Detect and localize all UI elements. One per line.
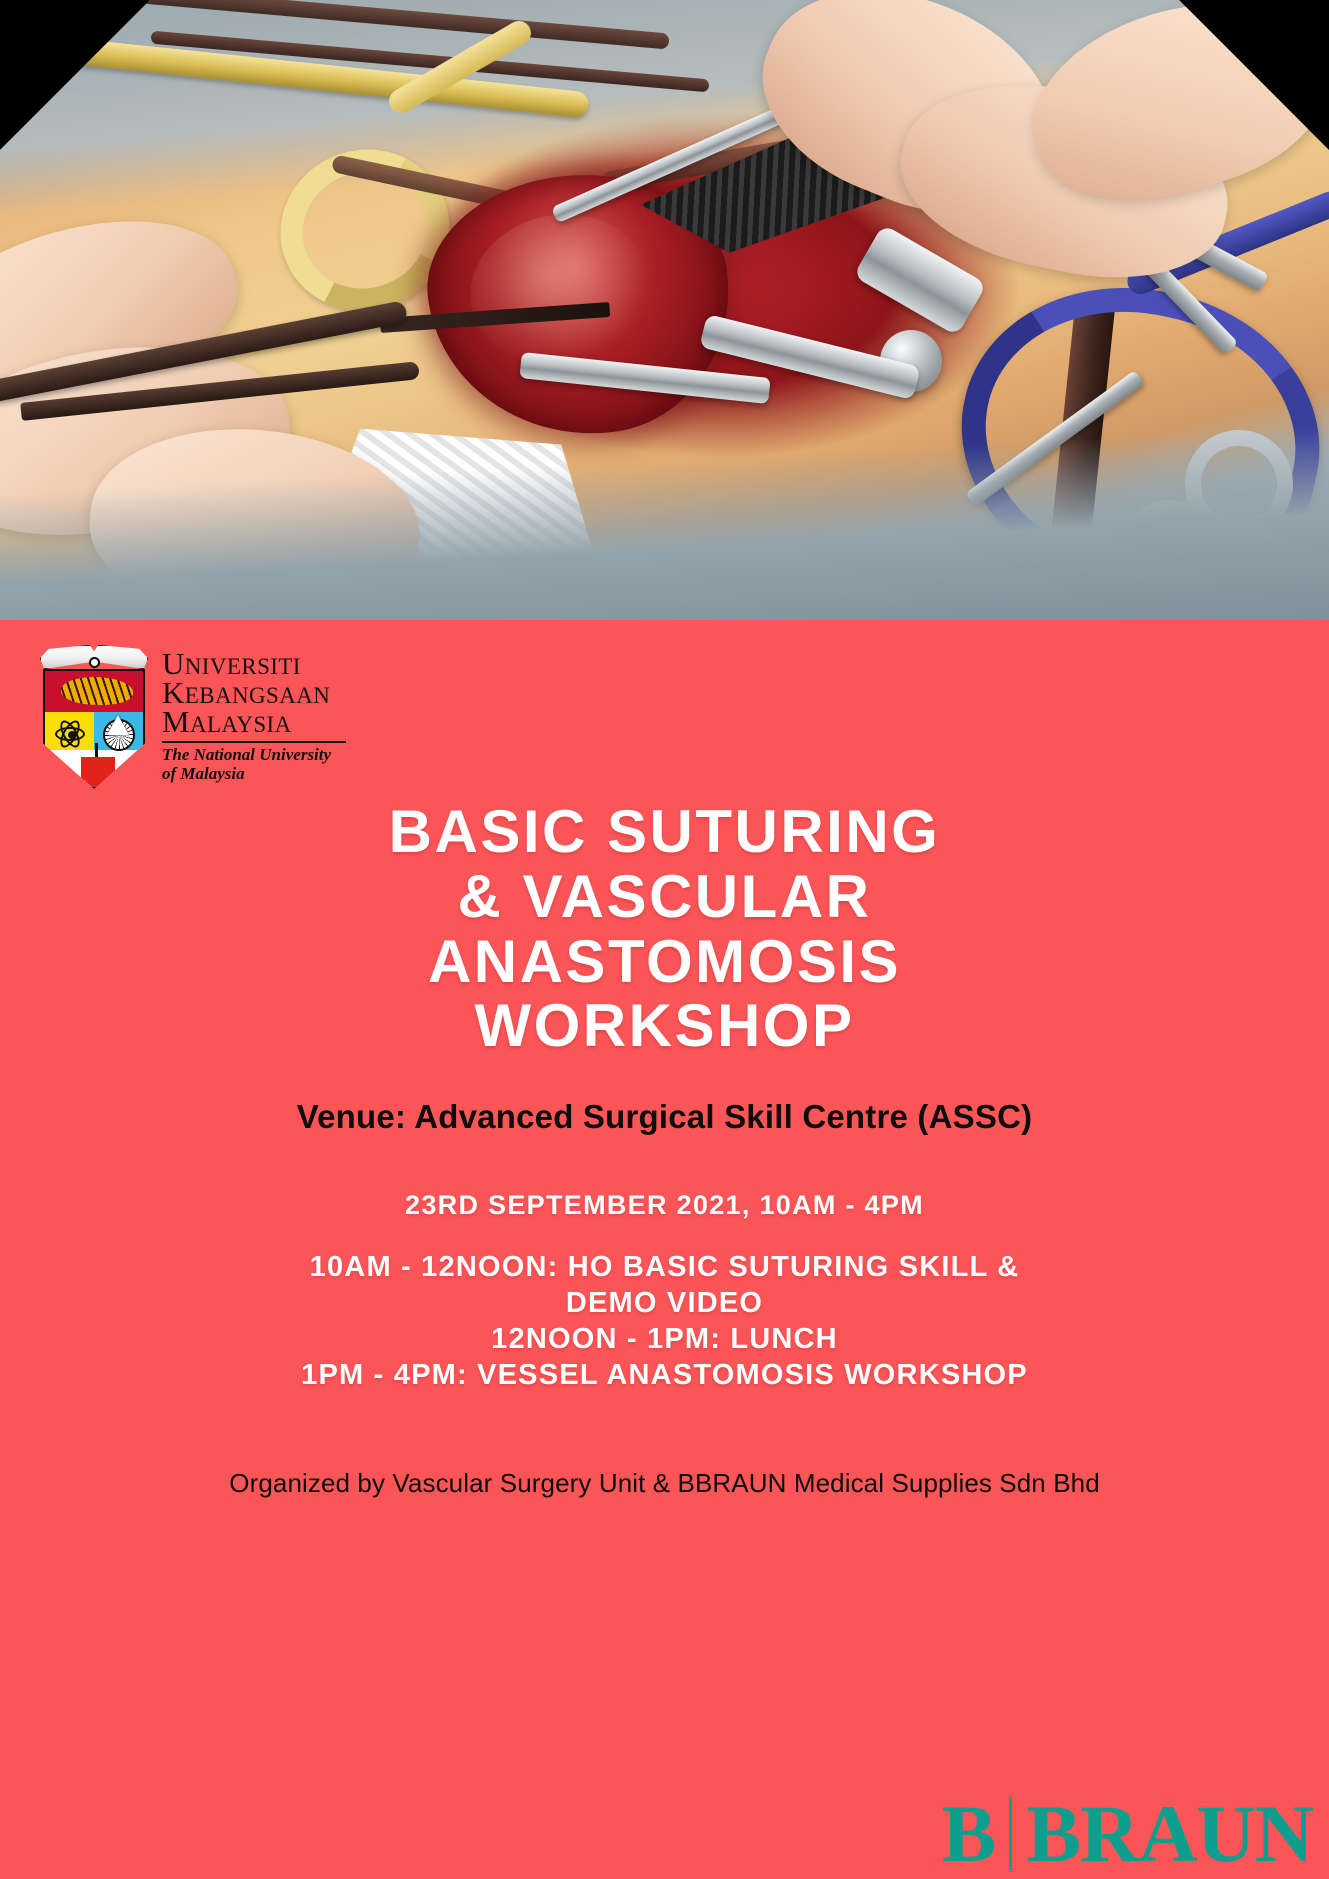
ukm-line-malaysia: MALAYSIA [162,707,346,736]
schedule-block: 10AM - 12NOON: HO BASIC SUTURING SKILL &… [0,1250,1329,1394]
ukm-wordmark: UNIVERSITI KEBANGSAAN MALAYSIA The Natio… [162,645,346,783]
page-title: BASIC SUTURING & VASCULAR ANASTOMOSIS WO… [0,800,1329,1059]
hibiscus-icon [81,757,115,787]
surgical-photo [0,0,1329,620]
tiger-icon [61,677,133,705]
bbraun-logo: B BRAUN [942,1793,1313,1875]
event-poster: UNIVERSITI KEBANGSAAN MALAYSIA The Natio… [0,0,1329,1879]
title-line-3: ANASTOMOSIS [0,930,1329,995]
schedule-item-2: 12NOON - 1PM: LUNCH [150,1322,1179,1358]
shield-icon [43,669,145,789]
schedule-item-1a: 10AM - 12NOON: HO BASIC SUTURING SKILL & [150,1250,1179,1286]
date-line: 23RD SEPTEMBER 2021, 10AM - 4PM [0,1190,1329,1221]
ukm-crest-icon [40,645,148,790]
ukm-line-kebangsaan: KEBANGSAAN [162,678,346,707]
bbraun-divider-icon [1009,1797,1012,1871]
organized-by-line: Organized by Vascular Surgery Unit & BBR… [0,1468,1329,1499]
ukm-line-universiti: UNIVERSITI [162,649,346,678]
surgical-photo-band [0,0,1329,620]
bbraun-mark: B [942,1793,1010,1875]
logo-divider [162,741,346,743]
schedule-item-3: 1PM - 4PM: VESSEL ANASTOMOSIS WORKSHOP [150,1358,1179,1394]
compass-icon [107,715,129,735]
schedule-item-1b: DEMO VIDEO [150,1286,1179,1322]
ukm-logo: UNIVERSITI KEBANGSAAN MALAYSIA The Natio… [40,645,346,790]
ukm-tagline-line1: The National University [162,746,346,764]
venue-line: Venue: Advanced Surgical Skill Centre (A… [0,1098,1329,1136]
title-line-4: WORKSHOP [0,994,1329,1059]
atom-icon [55,717,89,751]
poster-content: UNIVERSITI KEBANGSAAN MALAYSIA The Natio… [0,620,1329,1879]
bbraun-name: BRAUN [1026,1793,1313,1875]
ukm-tagline-line2: of Malaysia [162,765,346,783]
book-clasp-icon [89,657,100,668]
title-line-2: & VASCULAR [0,865,1329,930]
title-line-1: BASIC SUTURING [0,800,1329,865]
